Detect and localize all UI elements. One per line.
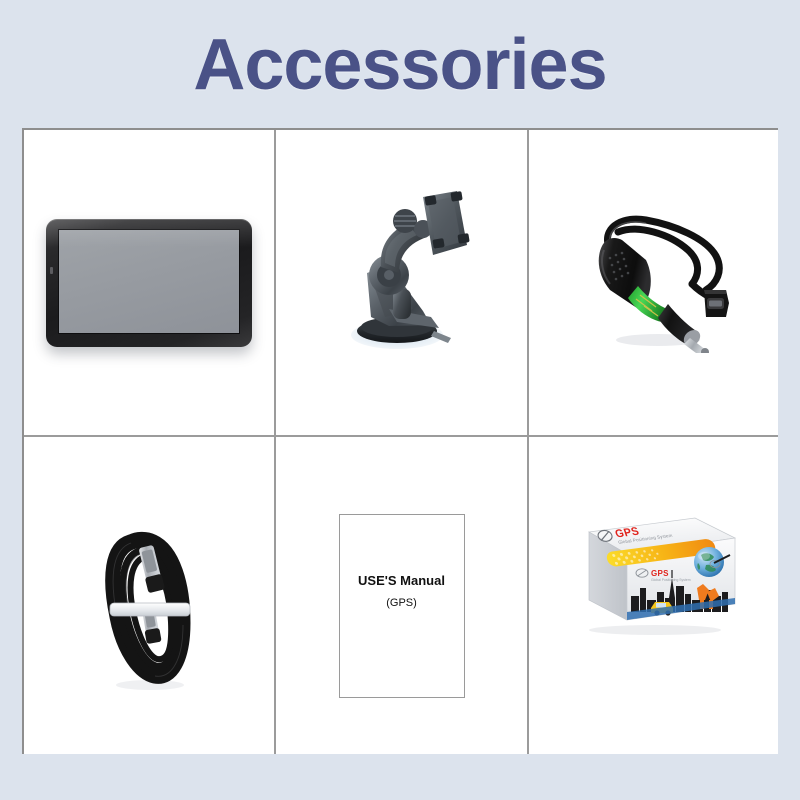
- accessory-cell-host[interactable]: host: [24, 130, 274, 435]
- user-manual-sheet-icon: USE'S Manual (GPS): [276, 507, 527, 705]
- product-packaging-box-icon: GPS Global Positioning System: [529, 497, 778, 647]
- svg-text:GPS: GPS: [651, 569, 669, 578]
- car-charger-icon: [529, 180, 778, 370]
- accessory-cell-packing-box[interactable]: GPS Global Positioning System: [527, 435, 778, 754]
- usb-cable-coil-icon: [24, 491, 274, 707]
- gps-navigator-device-icon: [24, 194, 274, 372]
- accessory-cell-manual[interactable]: USE'S Manual (GPS): [274, 435, 527, 754]
- navigator-screen: [58, 229, 240, 334]
- manual-title: USE'S Manual: [340, 573, 464, 588]
- accessory-cell-usb-cable[interactable]: USB Cable: [24, 435, 274, 754]
- accessory-cell-bracket[interactable]: Bracket: [274, 130, 527, 435]
- accessory-cell-car-charger[interactable]: Car charger: [527, 130, 778, 435]
- manual-subtitle: (GPS): [340, 597, 464, 609]
- page-title: Accessories: [0, 22, 800, 108]
- svg-text:Global Positioning System: Global Positioning System: [651, 578, 691, 582]
- suction-cup-mount-icon: [276, 172, 527, 372]
- accessory-grid: host: [22, 128, 778, 754]
- navigator-indicator-icon: [50, 267, 53, 274]
